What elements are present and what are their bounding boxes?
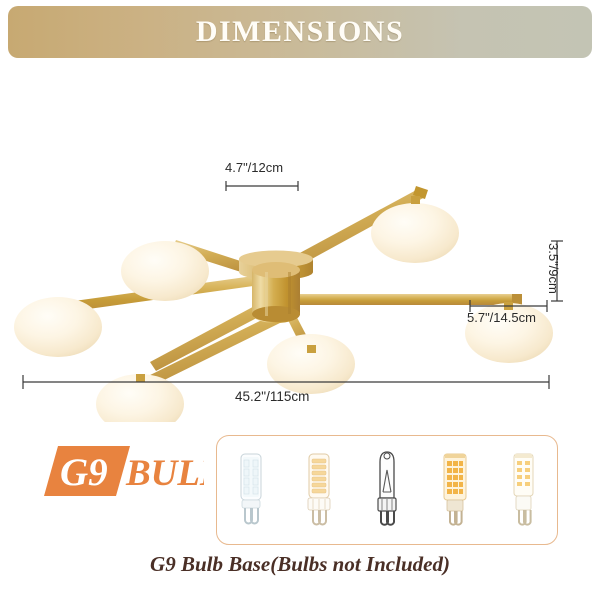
bulb-type-panel (216, 435, 558, 545)
dimension-line-canopy-width (226, 181, 298, 191)
dimension-label-overall-width: 45.2"/115cm (235, 389, 309, 404)
led-cool-white-g9-bulb-icon (228, 448, 274, 532)
dimension-label-canopy-width: 4.7"/12cm (225, 160, 283, 175)
dimension-label-shade-height: 3.5"/9cm (546, 243, 561, 294)
g9-bulb-logo: G9 BULB (44, 440, 204, 502)
bulb-icon-row (217, 436, 557, 544)
g9-logo-word: BULB (125, 453, 204, 494)
product-dimension-card: DIMENSIONS (0, 0, 600, 600)
dimension-label-shade-width: 5.7"/14.5cm (467, 310, 536, 325)
fixture-illustration (0, 62, 600, 422)
led-frosted-smd-g9-bulb-icon (500, 448, 546, 532)
g9-badge-text: G9 (60, 451, 108, 494)
bulb-caption: G9 Bulb Base(Bulbs not Included) (0, 552, 600, 577)
bulb-compatibility-section: G9 BULB (0, 432, 600, 552)
led-warm-white-g9-bulb-icon (296, 448, 342, 532)
banner-title: DIMENSIONS (196, 15, 404, 49)
header-banner: DIMENSIONS (8, 6, 592, 58)
led-amber-smd-g9-bulb-icon (432, 448, 478, 532)
halogen-clear-g9-bulb-icon (364, 448, 410, 532)
